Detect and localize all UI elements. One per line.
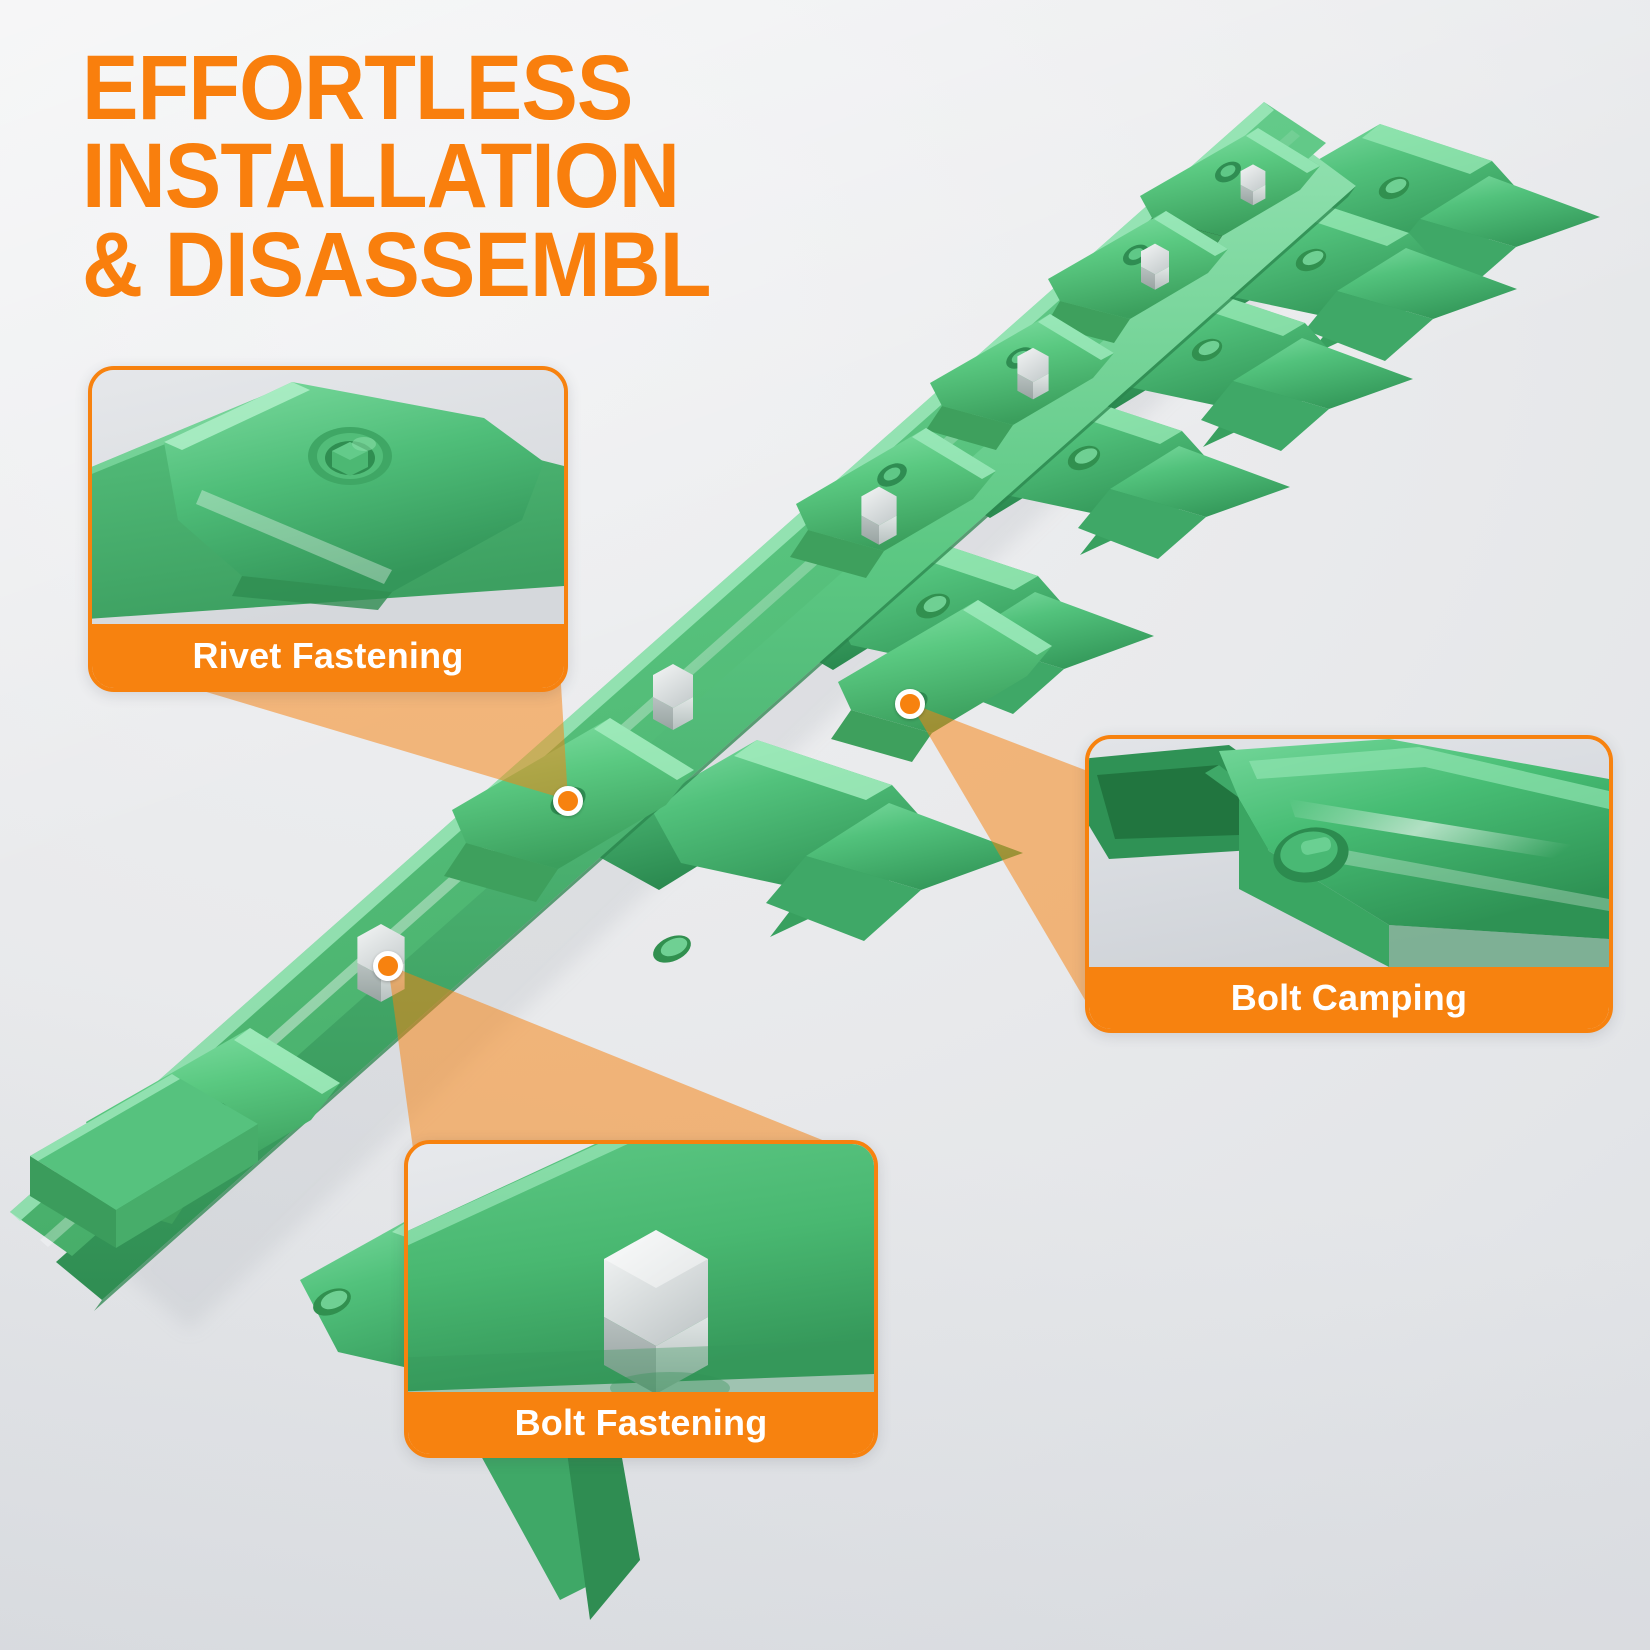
poster-canvas: Rivet Fastening <box>0 0 1650 1650</box>
callout-photo-bolt-fastening <box>408 1144 874 1392</box>
callout-photo-rivet <box>92 370 564 624</box>
callout-card-bolt-fastening[interactable]: Bolt Fastening <box>404 1140 878 1458</box>
hotspot-bolt-camping-marker[interactable] <box>895 689 925 719</box>
hotspot-bolt-fastening-marker[interactable] <box>373 951 403 981</box>
callout-label-rivet-fastening: Rivet Fastening <box>92 624 564 688</box>
callout-photo-bolt-camping <box>1089 739 1609 967</box>
callout-card-bolt-camping[interactable]: Bolt Camping <box>1085 735 1613 1033</box>
callout-label-bolt-fastening: Bolt Fastening <box>408 1392 874 1454</box>
page-title: EFFORTLESS INSTALLATION & DISASSEMBL <box>82 44 1241 309</box>
callout-label-bolt-camping: Bolt Camping <box>1089 967 1609 1029</box>
hotspot-rivet-marker[interactable] <box>553 786 583 816</box>
callout-card-rivet-fastening[interactable]: Rivet Fastening <box>88 366 568 692</box>
